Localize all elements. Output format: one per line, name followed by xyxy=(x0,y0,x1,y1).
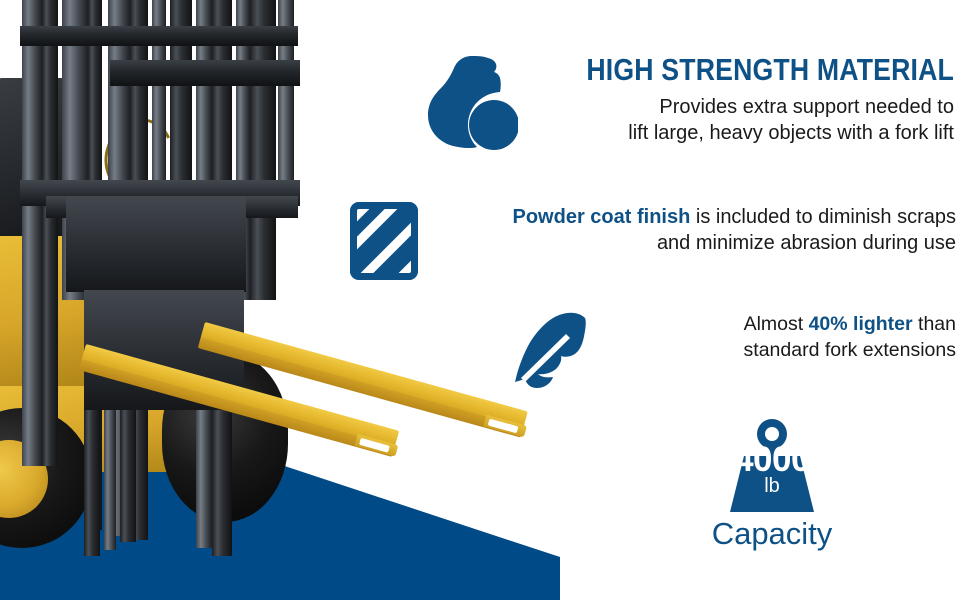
flexed-bicep-icon xyxy=(424,52,520,156)
feather-icon xyxy=(508,308,600,392)
feature-body-line-1: Almost 40% lighter than xyxy=(600,312,956,338)
mast-rail xyxy=(22,0,42,466)
capacity-badge: 4000 lb Capacity xyxy=(692,418,852,549)
feature-body-line-1: Provides extra support needed to xyxy=(520,95,954,121)
capacity-label: Capacity xyxy=(692,518,852,549)
feature-body-line-2: lift large, heavy objects with a fork li… xyxy=(520,121,954,147)
capacity-unit: lb xyxy=(708,476,836,496)
feature-body-line-2: standard fork extensions xyxy=(600,338,956,364)
carriage-plate xyxy=(66,196,246,292)
mast-post xyxy=(84,410,100,556)
text-run-emphasis: 40% lighter xyxy=(809,313,913,335)
text-run: lift large, heavy objects with a fork li… xyxy=(628,122,954,144)
text-run: standard fork extensions xyxy=(744,339,956,361)
feature-lighter-weight: Almost 40% lighter than standard fork ex… xyxy=(508,308,956,392)
diagonal-stripes-square-icon xyxy=(336,198,432,284)
feature-body-line-2: and minimize abrasion during use xyxy=(432,230,956,256)
feature-headline: HIGH STRENGTH MATERIAL xyxy=(581,54,954,85)
text-run: is included to diminish scraps xyxy=(690,206,956,228)
capacity-value: 4000 xyxy=(708,442,836,477)
diagonal-stripes-glyph xyxy=(350,202,418,280)
mast-crossbar xyxy=(110,60,300,86)
mast-post xyxy=(120,410,136,542)
text-run: Almost xyxy=(744,313,809,335)
flexed-bicep-glyph xyxy=(426,53,518,155)
feature-body-line-1: Powder coat finish is included to dimini… xyxy=(432,204,956,230)
infographic-canvas: HIGH STRENGTH MATERIAL Provides extra su… xyxy=(0,0,970,600)
feather-glyph xyxy=(513,310,595,390)
text-run-emphasis: Powder coat finish xyxy=(513,206,691,228)
feature-powder-coat: Powder coat finish is included to dimini… xyxy=(336,198,956,284)
text-run: Provides extra support needed to xyxy=(659,96,954,118)
weight-plate-icon: 4000 lb xyxy=(708,418,836,514)
mast-post xyxy=(104,410,116,550)
mast-crossbar xyxy=(20,26,298,46)
text-run: and minimize abrasion during use xyxy=(657,232,956,254)
text-run: than xyxy=(913,313,956,335)
feature-high-strength: HIGH STRENGTH MATERIAL Provides extra su… xyxy=(424,52,954,156)
mast-rail xyxy=(42,0,58,466)
